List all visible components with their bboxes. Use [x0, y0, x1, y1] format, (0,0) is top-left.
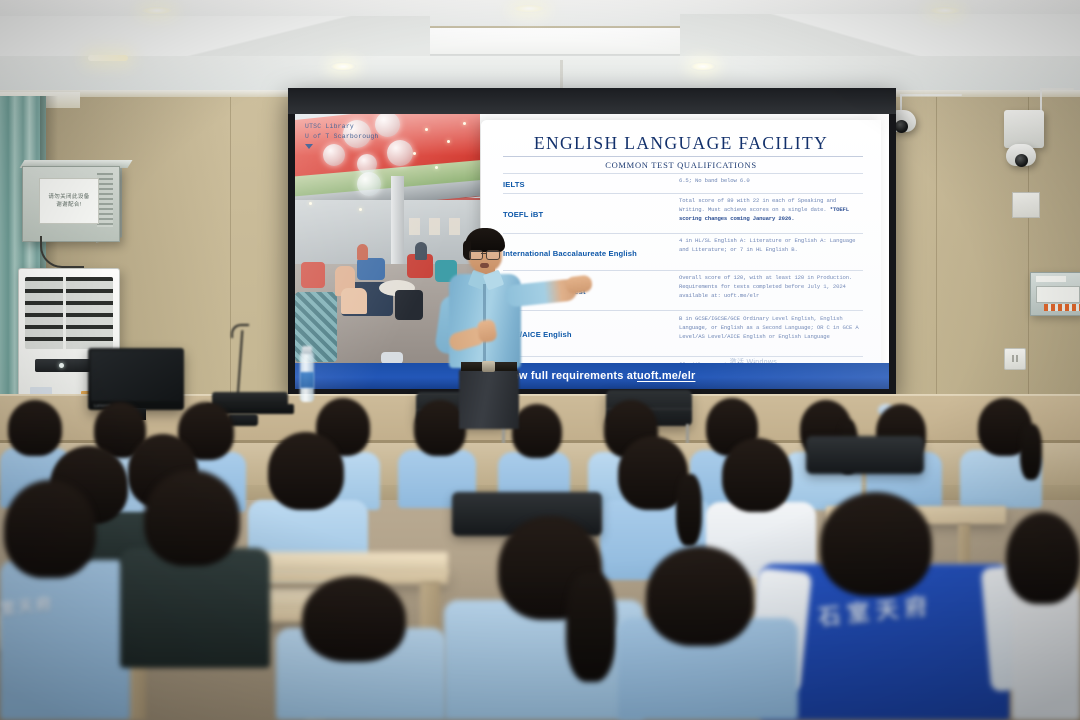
photo-seat-red-2 — [301, 262, 325, 288]
student-head-front — [4, 480, 96, 578]
slide-subtitle: COMMON TEST QUALIFICATIONS — [481, 160, 881, 170]
photo-column — [391, 176, 404, 276]
presenter-glasses-right — [486, 250, 500, 260]
bottle-label — [300, 372, 314, 388]
photo-spotlight-4 — [463, 122, 466, 125]
slide-content-card: ENGLISH LANGUAGE FACILITY COMMON TEST QU… — [481, 120, 881, 378]
presenter-legs — [459, 369, 519, 429]
student-head-front — [820, 492, 932, 596]
row-requirement: B in GCSE/IGCSE/GCE Ordinary Level Engli… — [679, 314, 863, 354]
security-camera-2 — [1006, 144, 1036, 166]
camera-lens-icon — [895, 120, 908, 133]
student-ponytail — [1020, 424, 1042, 480]
student-body-front — [0, 560, 130, 720]
camera-lens-icon-2 — [1015, 154, 1028, 167]
sign-line-1: 请勿关闭此设备 — [48, 193, 89, 201]
photo-spotlight-3 — [413, 152, 416, 155]
student-head — [8, 400, 62, 456]
slide-footer-banner: Review full requirements at uoft.me/elr — [295, 363, 889, 389]
banner-link[interactable]: uoft.me/elr — [637, 370, 695, 382]
row-sep-5 — [503, 356, 863, 357]
photo-poster-1 — [409, 218, 420, 235]
photo-pendant-5 — [357, 172, 381, 196]
photo-pendant-1 — [323, 144, 345, 166]
student-head — [512, 404, 562, 458]
downlight-2 — [512, 4, 546, 13]
table-row: GCE/AICE English B in GCSE/IGCSE/GCE Ord… — [503, 314, 863, 354]
ac-power-led-icon — [59, 363, 64, 368]
row-sep-3 — [503, 270, 863, 271]
monitor-screen — [91, 351, 181, 401]
presenter-glasses-left — [469, 250, 483, 260]
downlight-1 — [140, 6, 174, 15]
table-row: IELTS 6.5; No band below 6.0 — [503, 176, 863, 193]
row-sep-0 — [503, 173, 863, 174]
breaker-window — [1036, 286, 1080, 303]
row-test-name: IELTS — [503, 176, 679, 193]
student-ponytail — [676, 474, 702, 546]
table-row: International Baccalaureate English 4 in… — [503, 236, 863, 270]
row-test-name: International Baccalaureate English — [503, 236, 679, 270]
row-requirement: Overall score of 120, with at least 120 … — [679, 273, 863, 309]
photo-seat-dark-2 — [395, 290, 423, 320]
camera-conduit-1 — [900, 94, 962, 96]
presenter-mouth — [480, 263, 489, 268]
student-head — [268, 432, 344, 510]
photo-spotlight-2 — [447, 140, 450, 143]
podium-monitor[interactable]: Lenovo — [88, 348, 184, 410]
photo-spotlight-7 — [359, 208, 362, 211]
breaker-switches-icon[interactable] — [1044, 304, 1080, 311]
row-requirement: 6.5; No band below 6.0 — [679, 176, 863, 193]
caption-line-1: UTSC Library — [305, 122, 379, 132]
row-sep-2 — [503, 233, 863, 234]
table-row: TOEFL iBT Total score of 89 with 22 in e… — [503, 196, 863, 232]
photo-spotlight-1 — [425, 128, 428, 131]
slide-photo-caption: UTSC Library U of T Scarborough — [305, 122, 379, 143]
photo-pendant-6 — [387, 140, 413, 166]
downlight-4 — [330, 62, 356, 71]
wall-socket[interactable] — [1004, 348, 1026, 370]
downlight-5 — [690, 62, 716, 71]
student-body-front-dark — [120, 548, 270, 668]
student-head-front — [646, 546, 754, 646]
projection-screen[interactable]: UTSC Library U of T Scarborough ENGLISH … — [288, 88, 896, 396]
photo-spotlight-5 — [435, 166, 438, 169]
row-sep-4 — [503, 310, 863, 311]
row-sep-1 — [503, 193, 863, 194]
row-requirement: 4 in HL/SL English A: Literature or Engl… — [679, 236, 863, 270]
row-req-text: Total score of 89 with 22 in each of Spe… — [679, 197, 836, 213]
row-requirement: Total score of 89 with 22 in each of Spe… — [679, 196, 863, 232]
presenter-belt-buckle — [482, 361, 495, 372]
caption-line-2: U of T Scarborough — [305, 132, 379, 142]
row-test-name: GCE/AICE English — [503, 314, 679, 354]
lecture-hall-photo: 请勿关闭此设备 谢谢配合! — [0, 0, 1080, 720]
title-rule — [503, 156, 863, 157]
downlight-3 — [928, 6, 962, 15]
wall-access-plate — [1012, 192, 1040, 218]
wall-mounted-equipment-box[interactable]: 请勿关闭此设备 谢谢配合! — [22, 166, 120, 242]
breaker-panel[interactable] — [1030, 272, 1080, 316]
photo-person-2 — [341, 288, 367, 314]
slide-title: ENGLISH LANGUAGE FACILITY — [481, 133, 881, 154]
ac-louver-divider — [63, 277, 66, 349]
bottle-cap — [302, 346, 312, 354]
student-chair[interactable] — [806, 436, 924, 474]
photo-spotlight-6 — [309, 202, 312, 205]
strip-light — [88, 55, 128, 61]
ac-louvers-icon — [25, 277, 113, 349]
row-test-name: TOEFL iBT — [503, 196, 679, 232]
photo-person-3 — [415, 242, 427, 260]
presenter-glasses-bridge — [481, 253, 486, 254]
photo-poster-2 — [429, 218, 440, 235]
caption-caret-icon — [305, 144, 313, 149]
camera-bracket-2 — [1040, 88, 1042, 112]
vent-grille-icon — [97, 173, 113, 227]
camera-conduit-2 — [1040, 88, 1074, 90]
student-head-front — [302, 576, 406, 662]
screen-bezel — [288, 88, 896, 114]
sign-line-2: 谢谢配合! — [56, 201, 82, 209]
photo-person-4 — [357, 244, 368, 260]
student-head-front — [144, 470, 240, 566]
equipment-notice-sign: 请勿关闭此设备 谢谢配合! — [39, 178, 99, 224]
student-body-front-white — [1012, 584, 1080, 720]
student-head-front — [1006, 512, 1080, 604]
student-ponytail-front — [566, 572, 616, 682]
breaker-label — [1036, 276, 1066, 282]
slide-surface: UTSC Library U of T Scarborough ENGLISH … — [295, 114, 889, 389]
presenter-hair — [465, 228, 505, 252]
photo-pendant-3 — [357, 154, 377, 174]
photo-seat-blue-1 — [357, 258, 385, 280]
camera-housing-2 — [1004, 110, 1044, 148]
photo-poster-3 — [449, 218, 460, 235]
student-head — [722, 438, 792, 512]
